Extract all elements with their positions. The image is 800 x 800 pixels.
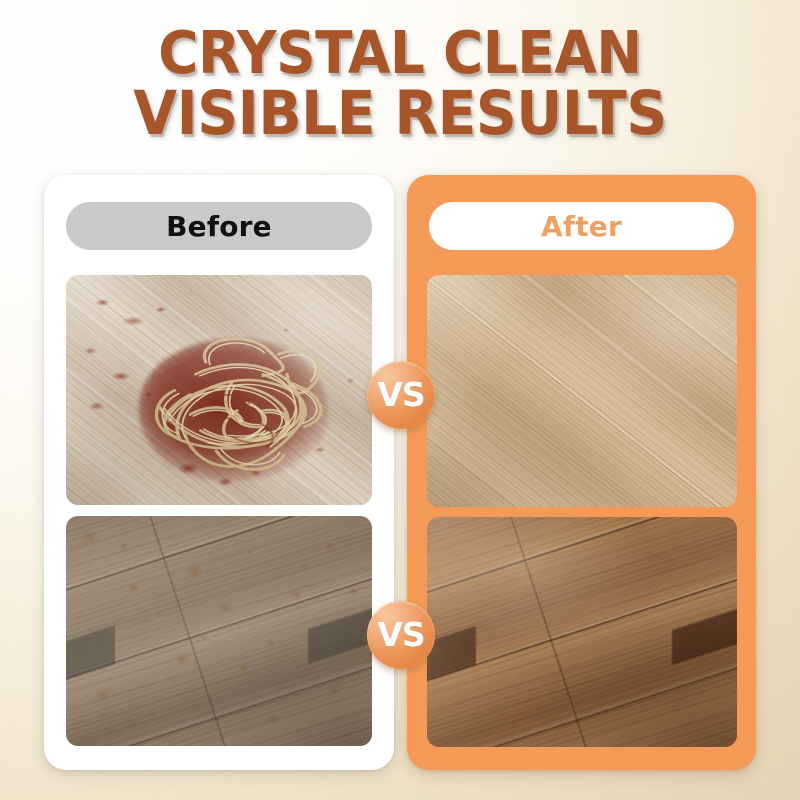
vs-badge-label: VS xyxy=(377,618,424,651)
vs-badge-top: VS xyxy=(367,361,435,429)
before-panel: Before xyxy=(44,175,394,770)
page-title: CRYSTAL CLEAN VISIBLE RESULTS xyxy=(0,22,800,144)
before-label-pill: Before xyxy=(66,202,372,250)
after-image-clean-walnut-floor xyxy=(427,517,737,747)
vs-badge-label: VS xyxy=(377,378,424,411)
page-title-line-2: VISIBLE RESULTS xyxy=(28,83,772,144)
before-label-text: Before xyxy=(166,210,272,243)
floor-lighting-overlay xyxy=(427,517,737,747)
after-label-pill: After xyxy=(429,202,734,250)
page-title-line-1: CRYSTAL CLEAN xyxy=(28,22,772,83)
floor-lighting-overlay xyxy=(427,275,737,507)
before-image-spaghetti-spill xyxy=(66,275,372,505)
after-image-clean-oak-floor xyxy=(427,275,737,507)
floor-lighting-overlay xyxy=(66,275,372,505)
after-label-text: After xyxy=(541,210,622,243)
floor-lighting-overlay xyxy=(66,516,372,746)
before-image-stained-floor xyxy=(66,516,372,746)
after-panel: After xyxy=(407,175,756,770)
vs-badge-bottom: VS xyxy=(367,601,435,669)
